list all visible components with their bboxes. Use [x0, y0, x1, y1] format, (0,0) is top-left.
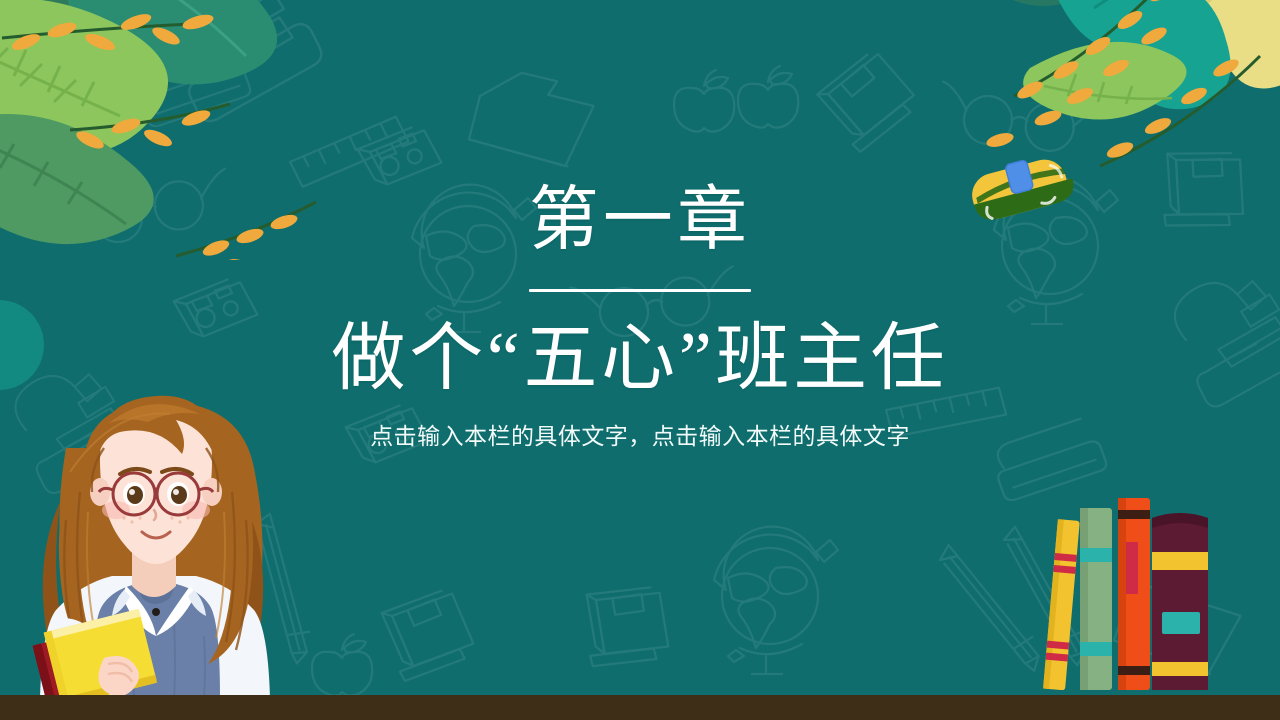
orange-book	[1118, 498, 1150, 690]
foliage-top-right	[970, 0, 1280, 170]
yellow-book	[1043, 519, 1080, 690]
presentation-slide: 第一章 做个“五心”班主任 点击输入本栏的具体文字，点击输入本栏的具体文字	[0, 0, 1280, 720]
teacher-character-illustration	[8, 352, 298, 702]
book-stack-right	[1034, 490, 1264, 695]
chapter-label: 第一章	[0, 186, 1280, 256]
green-book	[1080, 508, 1112, 690]
maroon-book	[1152, 513, 1208, 690]
bottom-bar	[0, 695, 1280, 720]
decorative-circle-top-left	[0, 52, 58, 182]
title-divider-rule	[529, 289, 751, 292]
